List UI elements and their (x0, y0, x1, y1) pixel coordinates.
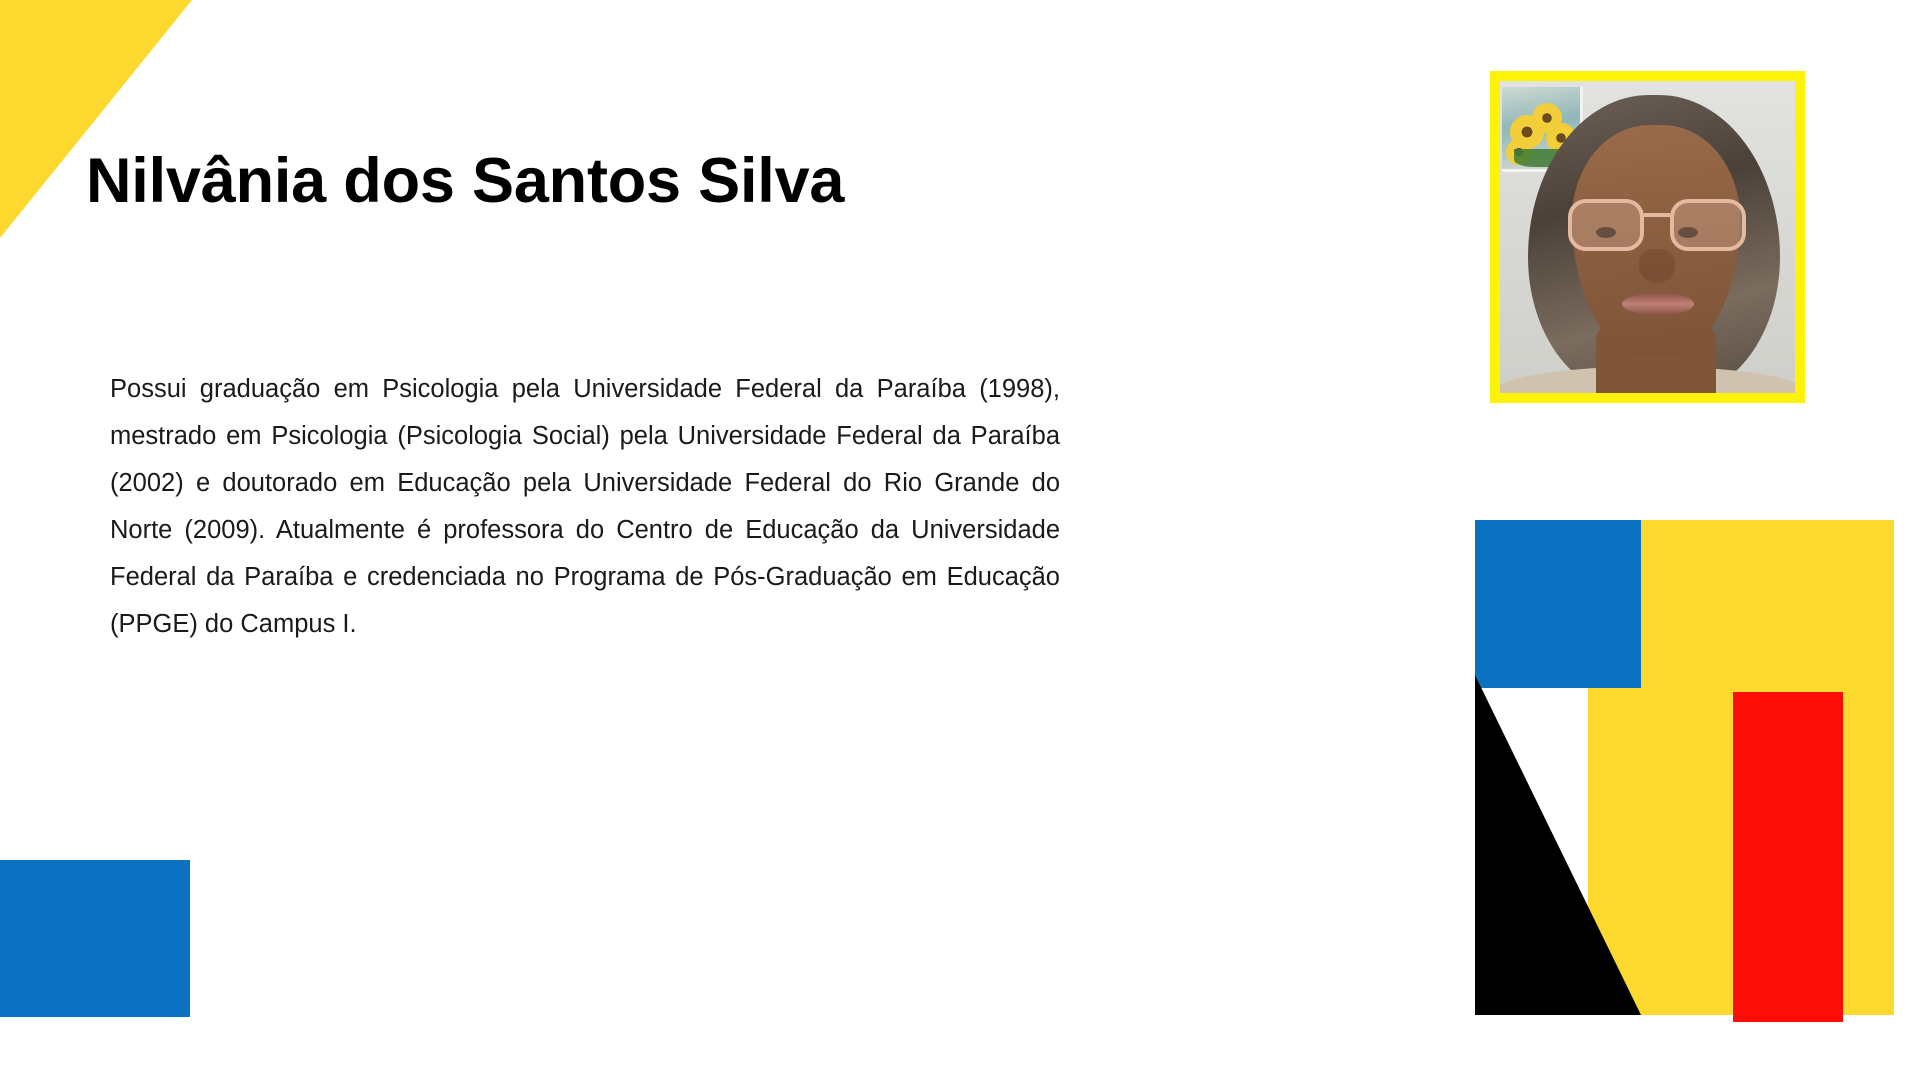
blue-rectangle-bottom-left (0, 860, 190, 1017)
portrait-frame (1490, 71, 1805, 403)
black-triangle-icon (1475, 675, 1641, 1015)
biography-paragraph: Possui graduação em Psicologia pela Univ… (110, 366, 1060, 648)
page-title: Nilvânia dos Santos Silva (86, 146, 1186, 217)
red-vertical-bar (1733, 692, 1843, 1022)
avatar (1500, 81, 1795, 393)
nose-shape (1639, 249, 1675, 283)
right-lens-shape (1670, 199, 1746, 251)
geometric-composition (1475, 520, 1895, 1020)
left-lens-shape (1568, 199, 1644, 251)
eyeglasses-icon (1568, 199, 1746, 255)
glasses-bridge-shape (1644, 213, 1670, 217)
blue-square (1475, 520, 1641, 688)
slide-canvas: Nilvânia dos Santos Silva Possui graduaç… (0, 0, 1920, 1080)
mouth-shape (1622, 293, 1694, 315)
